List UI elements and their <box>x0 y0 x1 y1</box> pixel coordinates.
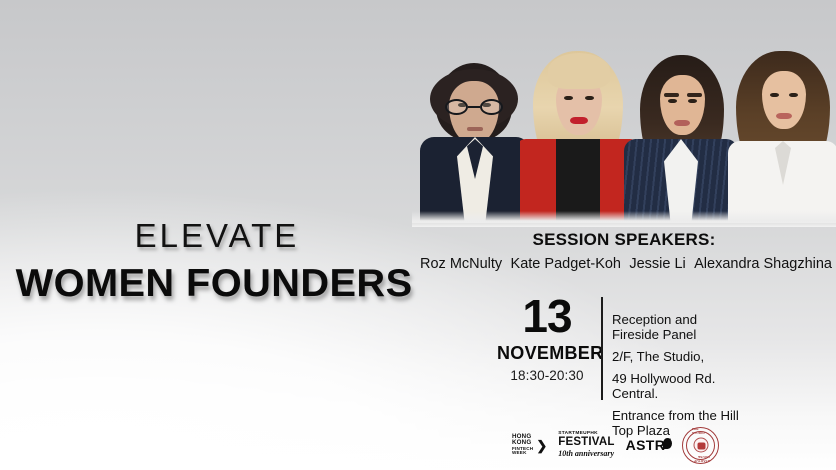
portrait-mouth <box>467 127 483 131</box>
speaker-portrait-4 <box>728 37 836 225</box>
portrait-mouth <box>570 117 588 124</box>
speaker-name: Kate Padget-Koh <box>511 256 621 272</box>
speaker-portrait-1 <box>420 45 530 225</box>
hkfw-line-4: WEEK <box>512 451 533 456</box>
studio-emblem-icon <box>693 438 708 453</box>
page-title-elevate: ELEVATE <box>0 218 420 255</box>
astro-mark-icon <box>663 438 672 449</box>
portrait-mouth <box>776 113 792 119</box>
headline-block: ELEVATE WOMEN FOUNDERS <box>0 218 420 306</box>
portrait-eye-right <box>789 93 798 97</box>
portrait-eye-left <box>668 99 677 103</box>
startmeuphk-anniversary: 10th anniversary <box>558 450 614 458</box>
event-month: NOVEMBER <box>497 343 597 364</box>
portrait-eye-left <box>770 93 779 97</box>
astro-wordmark: ASTR <box>626 437 666 453</box>
astro-logo: ASTR ™ <box>626 437 672 453</box>
portrait-eye-right <box>585 96 594 100</box>
venue-line: 49 Hollywood Rd. Central. <box>612 371 742 401</box>
portrait-hair-front <box>548 53 610 89</box>
speaker-name: Jessie Li <box>629 256 685 272</box>
the-studio-logo: THE STUDIO STARTUP HOUSE <box>682 427 719 464</box>
startmeuphk-festival-logo: STARTMEUPHK FESTIVAL 10th anniversary <box>558 432 614 457</box>
venue-line: Reception and Fireside Panel <box>612 312 742 342</box>
event-poster: ELEVATE WOMEN FOUNDERS <box>0 0 836 470</box>
session-speakers-list: Roz McNulty Kate Padget-Koh Jessie Li Al… <box>420 256 832 272</box>
speaker-photo-strip <box>412 28 836 225</box>
date-venue-divider <box>601 297 603 400</box>
portrait-eye-left <box>564 96 573 100</box>
event-date-block: 13 NOVEMBER 18:30-20:30 <box>497 295 597 383</box>
partner-logos: HONG KONG FINTECH WEEK ❯ STARTMEUPHK FES… <box>512 424 732 466</box>
speaker-name: Roz McNulty <box>420 256 502 272</box>
event-venue-block: Reception and Fireside Panel 2/F, The St… <box>612 312 742 438</box>
eyeglasses-icon <box>445 99 503 115</box>
portrait-brows <box>664 93 702 97</box>
speaker-portrait-2 <box>520 39 636 225</box>
startmeuphk-festival-word: FESTIVAL <box>558 437 614 449</box>
event-time: 18:30-20:30 <box>497 368 597 383</box>
studio-ring-bottom: STARTUP HOUSE <box>692 455 710 463</box>
hong-kong-fintech-week-logo: HONG KONG FINTECH WEEK ❯ <box>512 434 547 456</box>
portrait-mouth <box>674 120 690 126</box>
chevron-right-icon: ❯ <box>536 439 547 452</box>
speaker-portrait-3 <box>624 41 738 225</box>
studio-ring-top: THE STUDIO <box>692 427 710 435</box>
session-speakers-title: SESSION SPEAKERS: <box>412 230 836 250</box>
page-title-women-founders: WOMEN FOUNDERS <box>0 262 424 306</box>
event-day: 13 <box>497 295 597 338</box>
photo-strip-divider <box>412 223 836 227</box>
venue-line: 2/F, The Studio, <box>612 349 742 364</box>
speaker-name: Alexandra Shagzhina <box>694 256 832 272</box>
portrait-eye-right <box>688 99 697 103</box>
